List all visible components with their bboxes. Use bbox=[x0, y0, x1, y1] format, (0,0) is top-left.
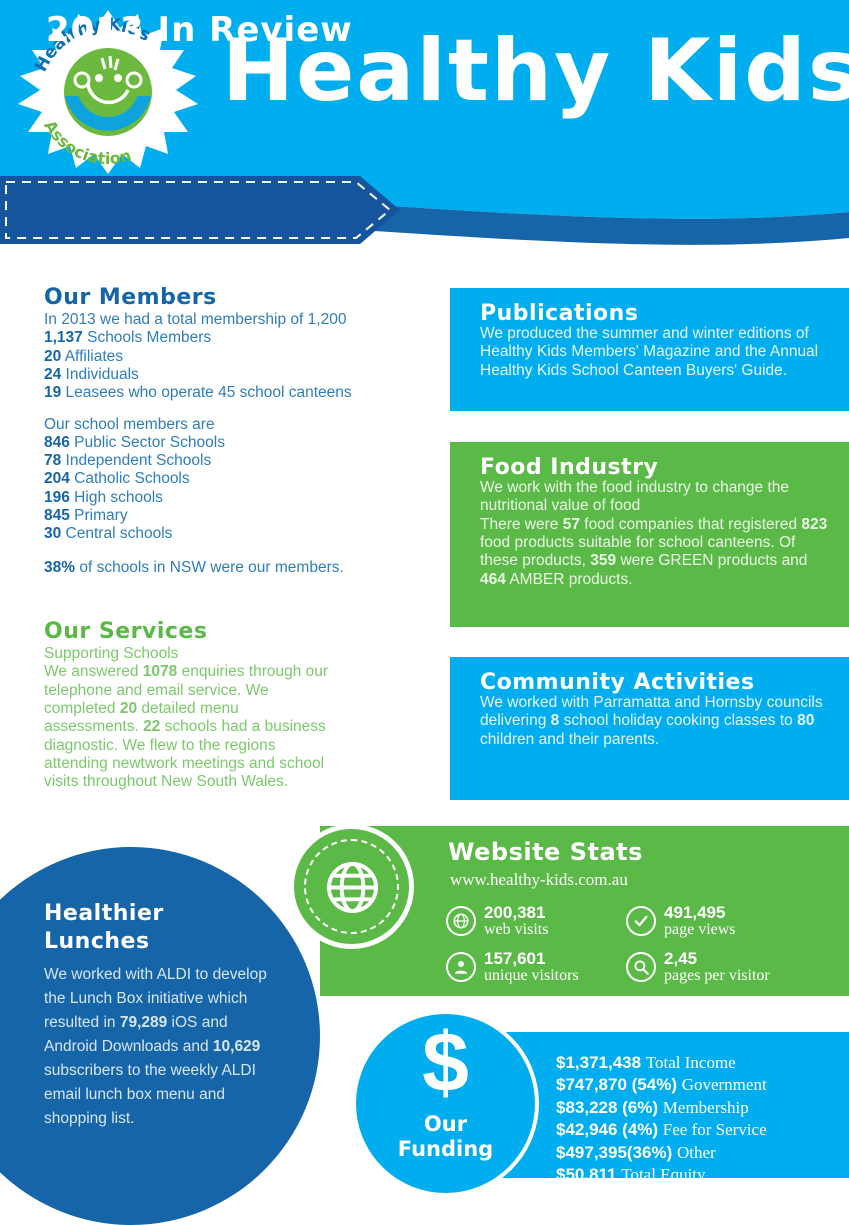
funding-amount: $1,371,438 bbox=[556, 1053, 646, 1072]
website-stat-value: 491,495 bbox=[664, 904, 736, 922]
stat-number: 10,629 bbox=[213, 1038, 260, 1055]
list-item: 846 Public Sector Schools bbox=[44, 434, 434, 452]
website-stat-value: 157,601 bbox=[484, 950, 579, 968]
stat-number: 30 bbox=[44, 525, 61, 542]
funding-label-line1: Our bbox=[356, 1112, 535, 1137]
funding-row: $747,870 (54%) Government bbox=[556, 1074, 767, 1096]
funding-category: Total Equity bbox=[621, 1165, 705, 1184]
website-stat-label: unique visitors bbox=[484, 968, 579, 985]
stat-number: 196 bbox=[44, 489, 70, 506]
stat-label: Schools Members bbox=[83, 329, 211, 346]
globe-icon bbox=[325, 860, 380, 915]
website-stat-item: 157,601unique visitors bbox=[446, 944, 626, 990]
website-stat-value: 200,381 bbox=[484, 904, 548, 922]
food-industry-panel: Food Industry We work with the food indu… bbox=[450, 442, 849, 627]
list-item: 78 Independent Schools bbox=[44, 452, 434, 470]
our-members-heading: Our Members bbox=[44, 286, 434, 309]
stat-number: 1078 bbox=[143, 663, 177, 680]
healthier-lunches-section: Healthier Lunches We worked with ALDI to… bbox=[44, 900, 276, 1131]
our-services-body: We answered 1078 enquiries through our t… bbox=[44, 663, 334, 791]
community-activities-body: We worked with Parramatta and Hornsby co… bbox=[480, 694, 831, 749]
spacer bbox=[44, 403, 434, 416]
community-activities-panel: Community Activities We worked with Parr… bbox=[450, 657, 849, 800]
list-item: 845 Primary bbox=[44, 507, 434, 525]
body-text: There were bbox=[480, 516, 563, 533]
list-item: 20 Affiliates bbox=[44, 348, 434, 366]
stat-number: 845 bbox=[44, 507, 70, 524]
stat-number: 24 bbox=[44, 366, 61, 383]
globe-visits-icon bbox=[446, 906, 476, 936]
list-item: 19 Leasees who operate 45 school canteen… bbox=[44, 384, 434, 402]
our-services-section: Our Services Supporting Schools We answe… bbox=[44, 620, 334, 791]
list-item: 24 Individuals bbox=[44, 366, 434, 384]
stat-number: 79,289 bbox=[120, 1014, 167, 1031]
list-item: 196 High schools bbox=[44, 489, 434, 507]
stat-number: 464 bbox=[480, 571, 506, 588]
members-intro: In 2013 we had a total membership of 1,2… bbox=[44, 311, 434, 329]
healthier-lunches-heading-line2: Lunches bbox=[44, 928, 276, 956]
body-text: children and their parents. bbox=[480, 731, 659, 748]
funding-amount: $83,228 (6%) bbox=[556, 1098, 663, 1117]
stat-label: Primary bbox=[70, 507, 128, 524]
website-stat-label: page views bbox=[664, 922, 736, 939]
stat-number: 8 bbox=[551, 712, 560, 729]
stat-number: 204 bbox=[44, 470, 70, 487]
website-stat-item: 2,45pages per visitor bbox=[626, 944, 826, 990]
healthier-lunches-body: We worked with ALDI to develop the Lunch… bbox=[44, 963, 276, 1131]
website-stat-value: 2,45 bbox=[664, 950, 770, 968]
members-list: 1,137 Schools Members20 Affiliates24 Ind… bbox=[44, 329, 434, 402]
stat-number: 19 bbox=[44, 384, 61, 401]
stat-number: 22 bbox=[143, 718, 160, 735]
website-stat-label: pages per visitor bbox=[664, 968, 770, 985]
funding-amount: $747,870 (54%) bbox=[556, 1075, 682, 1094]
school-members-list: 846 Public Sector Schools78 Independent … bbox=[44, 434, 434, 544]
nsw-percentage: 38% of schools in NSW were our members. bbox=[44, 559, 434, 577]
community-activities-heading: Community Activities bbox=[480, 671, 831, 694]
user-icon bbox=[446, 952, 476, 982]
stat-label: Individuals bbox=[61, 366, 139, 383]
our-services-subheading: Supporting Schools bbox=[44, 645, 334, 663]
nsw-percentage-label: of schools in NSW were our members. bbox=[75, 559, 344, 576]
funding-label: Our Funding bbox=[356, 1112, 535, 1162]
healthier-lunches-heading-line1: Healthier bbox=[44, 900, 276, 928]
funding-category: Membership bbox=[663, 1098, 749, 1117]
website-stat-text: 491,495page views bbox=[664, 904, 736, 939]
website-stat-label: web visits bbox=[484, 922, 548, 939]
our-members-section: Our Members In 2013 we had a total membe… bbox=[44, 286, 434, 578]
banner-label: 2013 In Review bbox=[46, 10, 353, 50]
website-globe-badge bbox=[289, 824, 414, 949]
funding-badge: $ Our Funding bbox=[352, 1010, 539, 1197]
magnifier-icon bbox=[626, 952, 656, 982]
website-stat-item: 491,495page views bbox=[626, 898, 826, 944]
check-circle-icon bbox=[626, 906, 656, 936]
funding-amount: $50,811 bbox=[556, 1165, 621, 1184]
funding-row: $50,811 Total Equity bbox=[556, 1164, 767, 1186]
list-item: 30 Central schools bbox=[44, 525, 434, 543]
stat-label: Catholic Schools bbox=[70, 470, 190, 487]
website-stat-text: 200,381web visits bbox=[484, 904, 548, 939]
stat-label: High schools bbox=[70, 489, 163, 506]
funding-row: $42,946 (4%) Fee for Service bbox=[556, 1119, 767, 1141]
year-review-banner bbox=[0, 176, 400, 244]
funding-row: $497,395(36%) Other bbox=[556, 1142, 767, 1164]
stat-number: 80 bbox=[797, 712, 814, 729]
funding-amount: $42,946 (4%) bbox=[556, 1120, 663, 1139]
food-industry-body: We work with the food industry to change… bbox=[480, 479, 831, 589]
stat-label: Leasees who operate 45 school canteens bbox=[61, 384, 351, 401]
dollar-icon: $ bbox=[356, 1020, 535, 1104]
food-industry-heading: Food Industry bbox=[480, 456, 831, 479]
stat-number: 359 bbox=[590, 552, 616, 569]
body-text: school holiday cooking classes to bbox=[559, 712, 797, 729]
body-text: food companies that registered bbox=[580, 516, 801, 533]
website-stats-heading: Website Stats bbox=[448, 840, 643, 865]
stat-label: Central schools bbox=[61, 525, 172, 542]
nsw-percentage-value: 38% bbox=[44, 559, 75, 576]
website-stat-item: 200,381web visits bbox=[446, 898, 626, 944]
funding-category: Total Income bbox=[646, 1053, 736, 1072]
funding-breakdown-list: $1,371,438 Total Income$747,870 (54%) Go… bbox=[556, 1052, 767, 1187]
publications-heading: Publications bbox=[480, 302, 831, 325]
body-text: subscribers to the weekly ALDI email lun… bbox=[44, 1062, 256, 1127]
website-stat-text: 157,601unique visitors bbox=[484, 950, 579, 985]
website-stats-grid: 200,381web visits491,495page views157,60… bbox=[446, 898, 836, 990]
funding-row: $1,371,438 Total Income bbox=[556, 1052, 767, 1074]
publications-body: We produced the summer and winter editio… bbox=[480, 325, 831, 380]
body-text: were GREEN products and bbox=[616, 552, 807, 569]
funding-label-line2: Funding bbox=[356, 1137, 535, 1162]
website-url: www.healthy-kids.com.au bbox=[450, 870, 628, 890]
stat-label: Public Sector Schools bbox=[70, 434, 225, 451]
stat-number: 20 bbox=[44, 348, 61, 365]
stat-label: Affiliates bbox=[61, 348, 123, 365]
body-text: AMBER products. bbox=[506, 571, 633, 588]
list-item: 204 Catholic Schools bbox=[44, 470, 434, 488]
stat-label: Independent Schools bbox=[61, 452, 211, 469]
publications-panel: Publications We produced the summer and … bbox=[450, 288, 849, 411]
body-text: We work with the food industry to change… bbox=[480, 479, 789, 514]
stat-number: 846 bbox=[44, 434, 70, 451]
school-members-intro: Our school members are bbox=[44, 416, 434, 434]
website-stat-text: 2,45pages per visitor bbox=[664, 950, 770, 985]
stat-number: 1,137 bbox=[44, 329, 83, 346]
funding-category: Other bbox=[677, 1143, 716, 1162]
list-item: 1,137 Schools Members bbox=[44, 329, 434, 347]
funding-row: $83,228 (6%) Membership bbox=[556, 1097, 767, 1119]
banner-shape bbox=[0, 176, 400, 244]
stat-number: 823 bbox=[801, 516, 827, 533]
stat-number: 57 bbox=[563, 516, 580, 533]
funding-amount: $497,395(36%) bbox=[556, 1143, 677, 1162]
body-text: We answered bbox=[44, 663, 143, 680]
our-services-heading: Our Services bbox=[44, 620, 334, 643]
stat-number: 78 bbox=[44, 452, 61, 469]
funding-category: Fee for Service bbox=[663, 1120, 767, 1139]
funding-category: Government bbox=[682, 1075, 767, 1094]
stat-number: 20 bbox=[120, 700, 137, 717]
